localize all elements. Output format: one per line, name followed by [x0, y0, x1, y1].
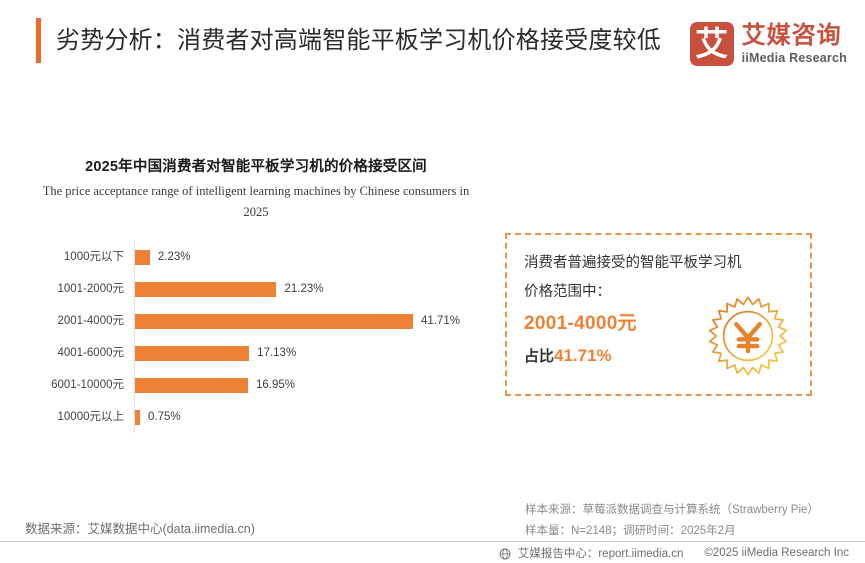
chart-row: 1000元以下2.23%	[36, 241, 476, 273]
chart-value-label: 16.95%	[256, 369, 295, 401]
chart-category-label: 6001-10000元	[36, 369, 124, 401]
callout-share-prefix: 占比	[524, 348, 554, 365]
callout-line-2: 价格范围中：	[524, 278, 734, 307]
chart-row: 10000元以上0.75%	[36, 401, 476, 433]
chart-row: 4001-6000元17.13%	[36, 337, 476, 369]
callout-share-value: 41.71%	[554, 346, 612, 365]
header-accent-bar	[36, 18, 41, 63]
chart-row: 2001-4000元41.71%	[36, 305, 476, 337]
chart-bar	[135, 250, 150, 265]
globe-icon	[499, 548, 511, 560]
chart-bar	[135, 378, 248, 393]
chart-value-label: 2.23%	[158, 241, 191, 273]
chart-value-label: 41.71%	[421, 305, 460, 337]
footer-sample-source: 样本来源：草莓派数据调查与计算系统（Strawberry Pie）	[525, 500, 819, 521]
iimedia-logo-icon: 艾	[690, 22, 734, 66]
iimedia-logo: 艾 艾媒咨询 iiMedia Research	[690, 20, 847, 68]
chart-value-label: 0.75%	[148, 401, 181, 433]
chart-row: 1001-2000元21.23%	[36, 273, 476, 305]
bar-chart-plot: 1000元以下2.23%1001-2000元21.23%2001-4000元41…	[36, 241, 476, 433]
callout-line-1: 消费者普遍接受的智能平板学习机	[524, 249, 734, 278]
chart-value-label: 17.13%	[257, 337, 296, 369]
logo-mark-glyph: 艾	[690, 22, 734, 66]
chart-row: 6001-10000元16.95%	[36, 369, 476, 401]
page-title: 劣势分析：消费者对高端智能平板学习机价格接受度较低	[56, 19, 661, 62]
chart-category-label: 2001-4000元	[36, 305, 124, 337]
footer-report-center[interactable]: 艾媒报告中心：report.iimedia.cn	[518, 545, 684, 561]
chart-category-label: 1001-2000元	[36, 273, 124, 305]
chart-bar	[135, 410, 140, 425]
callout-box: 消费者普遍接受的智能平板学习机 价格范围中： 2001-4000元 占比41.7…	[505, 233, 812, 396]
logo-name-cn: 艾媒咨询	[742, 24, 847, 48]
callout-share-line: 占比41.71%	[524, 340, 734, 372]
chart-category-label: 4001-6000元	[36, 337, 124, 369]
callout-text: 消费者普遍接受的智能平板学习机 价格范围中： 2001-4000元 占比41.7…	[524, 249, 734, 372]
footer-bar: 艾媒报告中心：report.iimedia.cn ©2025 iiMedia R…	[0, 542, 865, 563]
chart-title-cn: 2025年中国消费者对智能平板学习机的价格接受区间	[36, 155, 476, 179]
chart-bar	[135, 346, 249, 361]
footer-sample-size: 样本量：N=2148；调研时间：2025年2月	[525, 521, 819, 542]
chart-value-label: 21.23%	[284, 273, 323, 305]
chart-bar	[135, 314, 413, 329]
footer-copyright: ©2025 iiMedia Research Inc	[704, 547, 849, 559]
chart-title-en: The price acceptance range of intelligen…	[36, 181, 476, 223]
logo-name-en: iiMedia Research	[742, 52, 847, 65]
slide-header: 劣势分析：消费者对高端智能平板学习机价格接受度较低 艾 艾媒咨询 iiMedia…	[0, 0, 865, 84]
chart-category-label: 10000元以上	[36, 401, 124, 433]
logo-wordmark: 艾媒咨询 iiMedia Research	[742, 24, 847, 65]
chart-bar	[135, 282, 276, 297]
callout-highlight-range: 2001-4000元	[524, 307, 734, 340]
footer-data-source: 数据来源：艾媒数据中心(data.iimedia.cn)	[25, 518, 255, 537]
yen-seal-icon	[706, 294, 790, 378]
chart-block: 2025年中国消费者对智能平板学习机的价格接受区间 The price acce…	[36, 155, 476, 433]
footer-sample-info: 样本来源：草莓派数据调查与计算系统（Strawberry Pie） 样本量：N=…	[525, 500, 819, 542]
slide-canvas: 劣势分析：消费者对高端智能平板学习机价格接受度较低 艾 艾媒咨询 iiMedia…	[0, 0, 865, 563]
chart-category-label: 1000元以下	[36, 241, 124, 273]
